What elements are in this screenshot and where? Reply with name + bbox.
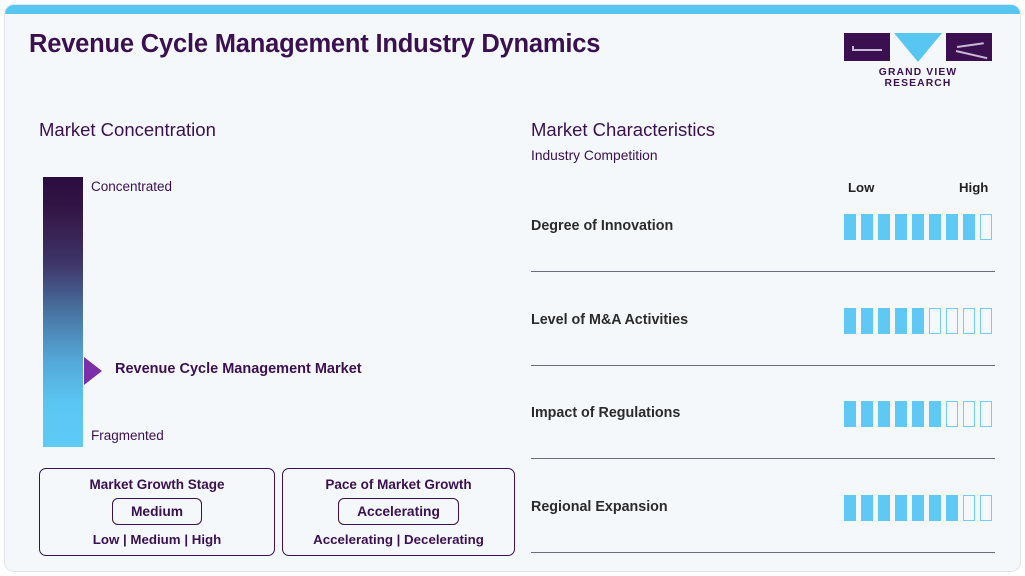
rating-segment-filled bbox=[895, 495, 907, 521]
rating-segment-filled bbox=[861, 495, 873, 521]
row-divider bbox=[531, 271, 995, 272]
rating-segment-empty bbox=[980, 401, 992, 427]
logo-wordmark: GRAND VIEW RESEARCH bbox=[844, 67, 992, 89]
market-growth-stage-options: Low | Medium | High bbox=[40, 532, 274, 547]
rating-segment-filled bbox=[946, 495, 958, 521]
logo-marks bbox=[844, 32, 992, 62]
pace-of-market-growth-title: Pace of Market Growth bbox=[283, 477, 514, 492]
logo-box-right-icon bbox=[946, 33, 992, 61]
market-growth-stage-box: Market Growth Stage Medium Low | Medium … bbox=[39, 468, 275, 556]
characteristic-rating-bars bbox=[844, 214, 992, 240]
market-concentration-heading: Market Concentration bbox=[39, 119, 216, 141]
rating-segment-filled bbox=[844, 495, 856, 521]
brand-logo: GRAND VIEW RESEARCH bbox=[844, 32, 992, 89]
rating-segment-filled bbox=[963, 214, 975, 240]
rating-segment-filled bbox=[946, 214, 958, 240]
market-characteristics-subtitle: Industry Competition bbox=[531, 148, 658, 163]
characteristic-rating-bars bbox=[844, 401, 992, 427]
market-growth-stage-value: Medium bbox=[112, 498, 202, 525]
row-divider bbox=[531, 552, 995, 553]
rating-segment-filled bbox=[929, 401, 941, 427]
rating-segment-filled bbox=[861, 308, 873, 334]
rating-segment-filled bbox=[844, 401, 856, 427]
concentration-marker-label: Revenue Cycle Management Market bbox=[115, 361, 362, 377]
rating-segment-empty bbox=[963, 495, 975, 521]
concentration-bottom-label: Fragmented bbox=[91, 428, 164, 443]
rating-segment-empty bbox=[963, 308, 975, 334]
rating-segment-filled bbox=[912, 214, 924, 240]
market-growth-stage-title: Market Growth Stage bbox=[40, 477, 274, 492]
infographic-card: Revenue Cycle Management Industry Dynami… bbox=[4, 4, 1021, 572]
logo-box-left-icon bbox=[844, 33, 890, 61]
rating-segment-empty bbox=[980, 214, 992, 240]
rating-segment-filled bbox=[895, 401, 907, 427]
characteristic-label: Impact of Regulations bbox=[531, 405, 680, 421]
characteristic-rating-bars bbox=[844, 308, 992, 334]
concentration-gradient-bar bbox=[43, 177, 83, 447]
right-pointing-triangle-icon bbox=[84, 357, 102, 385]
characteristic-label: Degree of Innovation bbox=[531, 218, 673, 234]
market-characteristics-heading: Market Characteristics bbox=[531, 119, 715, 141]
logo-triangle-icon bbox=[894, 33, 942, 62]
characteristic-rating-bars bbox=[844, 495, 992, 521]
rating-segment-filled bbox=[861, 214, 873, 240]
row-divider bbox=[531, 365, 995, 366]
pace-of-market-growth-box: Pace of Market Growth Accelerating Accel… bbox=[282, 468, 515, 556]
scale-header-low: Low bbox=[848, 180, 874, 195]
rating-segment-empty bbox=[980, 308, 992, 334]
rating-segment-filled bbox=[861, 401, 873, 427]
concentration-top-label: Concentrated bbox=[91, 179, 172, 194]
rating-segment-filled bbox=[912, 495, 924, 521]
rating-segment-empty bbox=[929, 308, 941, 334]
pace-of-market-growth-options: Accelerating | Decelerating bbox=[283, 532, 514, 547]
rating-segment-empty bbox=[963, 401, 975, 427]
characteristic-label: Regional Expansion bbox=[531, 499, 668, 515]
row-divider bbox=[531, 458, 995, 459]
rating-segment-empty bbox=[946, 401, 958, 427]
characteristic-row: Degree of Innovation bbox=[531, 210, 995, 303]
characteristic-row: Regional Expansion bbox=[531, 491, 995, 572]
top-accent-bar bbox=[5, 5, 1020, 14]
scale-header-high: High bbox=[959, 180, 988, 195]
rating-segment-filled bbox=[878, 495, 890, 521]
rating-segment-filled bbox=[878, 214, 890, 240]
rating-segment-filled bbox=[844, 308, 856, 334]
rating-segment-empty bbox=[946, 308, 958, 334]
rating-segment-filled bbox=[895, 214, 907, 240]
rating-segment-filled bbox=[844, 214, 856, 240]
pace-of-market-growth-value: Accelerating bbox=[338, 498, 459, 525]
rating-segment-filled bbox=[878, 308, 890, 334]
page-title: Revenue Cycle Management Industry Dynami… bbox=[29, 30, 600, 59]
characteristic-row: Level of M&A Activities bbox=[531, 304, 995, 397]
rating-segment-empty bbox=[980, 495, 992, 521]
rating-segment-filled bbox=[878, 401, 890, 427]
rating-segment-filled bbox=[895, 308, 907, 334]
characteristic-row: Impact of Regulations bbox=[531, 397, 995, 490]
rating-segment-filled bbox=[929, 214, 941, 240]
rating-segment-filled bbox=[929, 495, 941, 521]
rating-segment-filled bbox=[912, 308, 924, 334]
rating-segment-filled bbox=[912, 401, 924, 427]
characteristic-label: Level of M&A Activities bbox=[531, 312, 688, 328]
